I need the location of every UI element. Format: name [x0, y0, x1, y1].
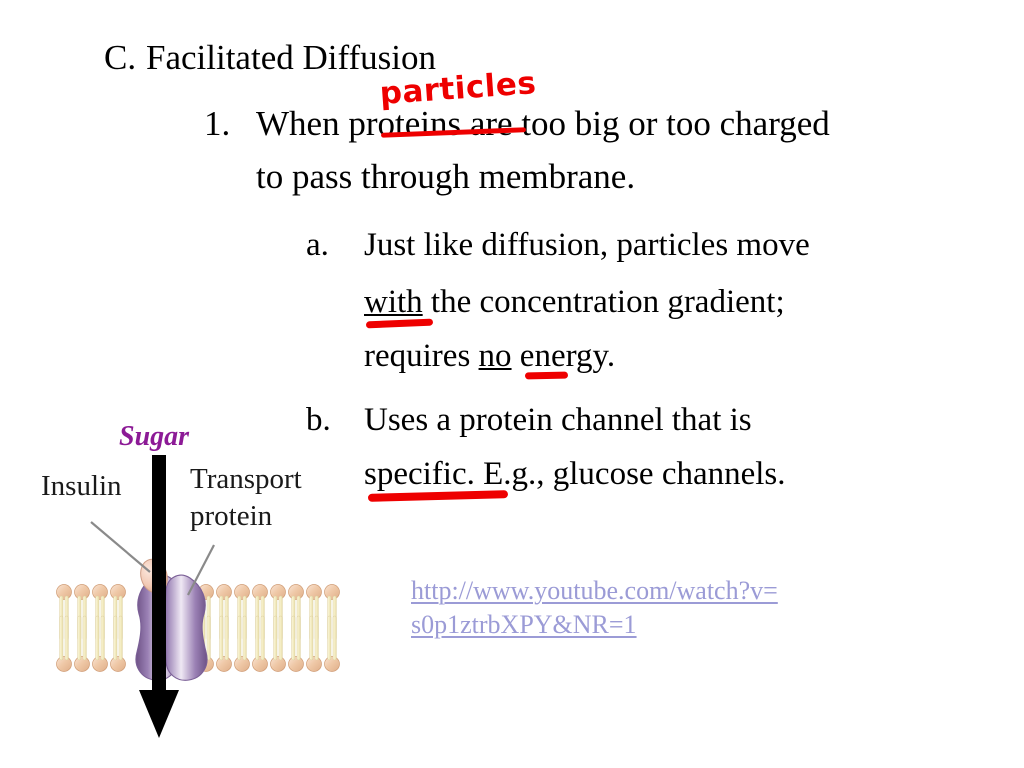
point-a-text-1: Just like diffusion, particles move: [364, 227, 810, 263]
youtube-hyperlink[interactable]: http://www.youtube.com/watch?v= s0p1ztrb…: [411, 574, 778, 643]
point-b-line-2: specific. E.g., glucose channels.: [364, 458, 786, 491]
point-1-post: are too big or too charged: [461, 104, 830, 143]
sugar-transport-arrow: [0, 0, 400, 768]
point-b-text-1: Uses a protein channel that is: [364, 402, 752, 438]
slide-canvas: C.Facilitated Diffusion 1.When proteins …: [0, 0, 1024, 768]
red-underline-no: [525, 372, 568, 380]
point-a-line-2: with the concentration gradient;: [364, 286, 785, 319]
point-a-text-3-post: energy.: [512, 338, 616, 374]
point-a-line-3: requires no energy.: [364, 340, 615, 373]
underlined-word-no: no: [479, 338, 512, 374]
youtube-hyperlink-line-2[interactable]: s0p1ztrbXPY&NR=1: [411, 608, 778, 642]
point-a-text-2: the concentration gradient;: [423, 284, 785, 320]
youtube-hyperlink-line-1[interactable]: http://www.youtube.com/watch?v=: [411, 574, 778, 608]
